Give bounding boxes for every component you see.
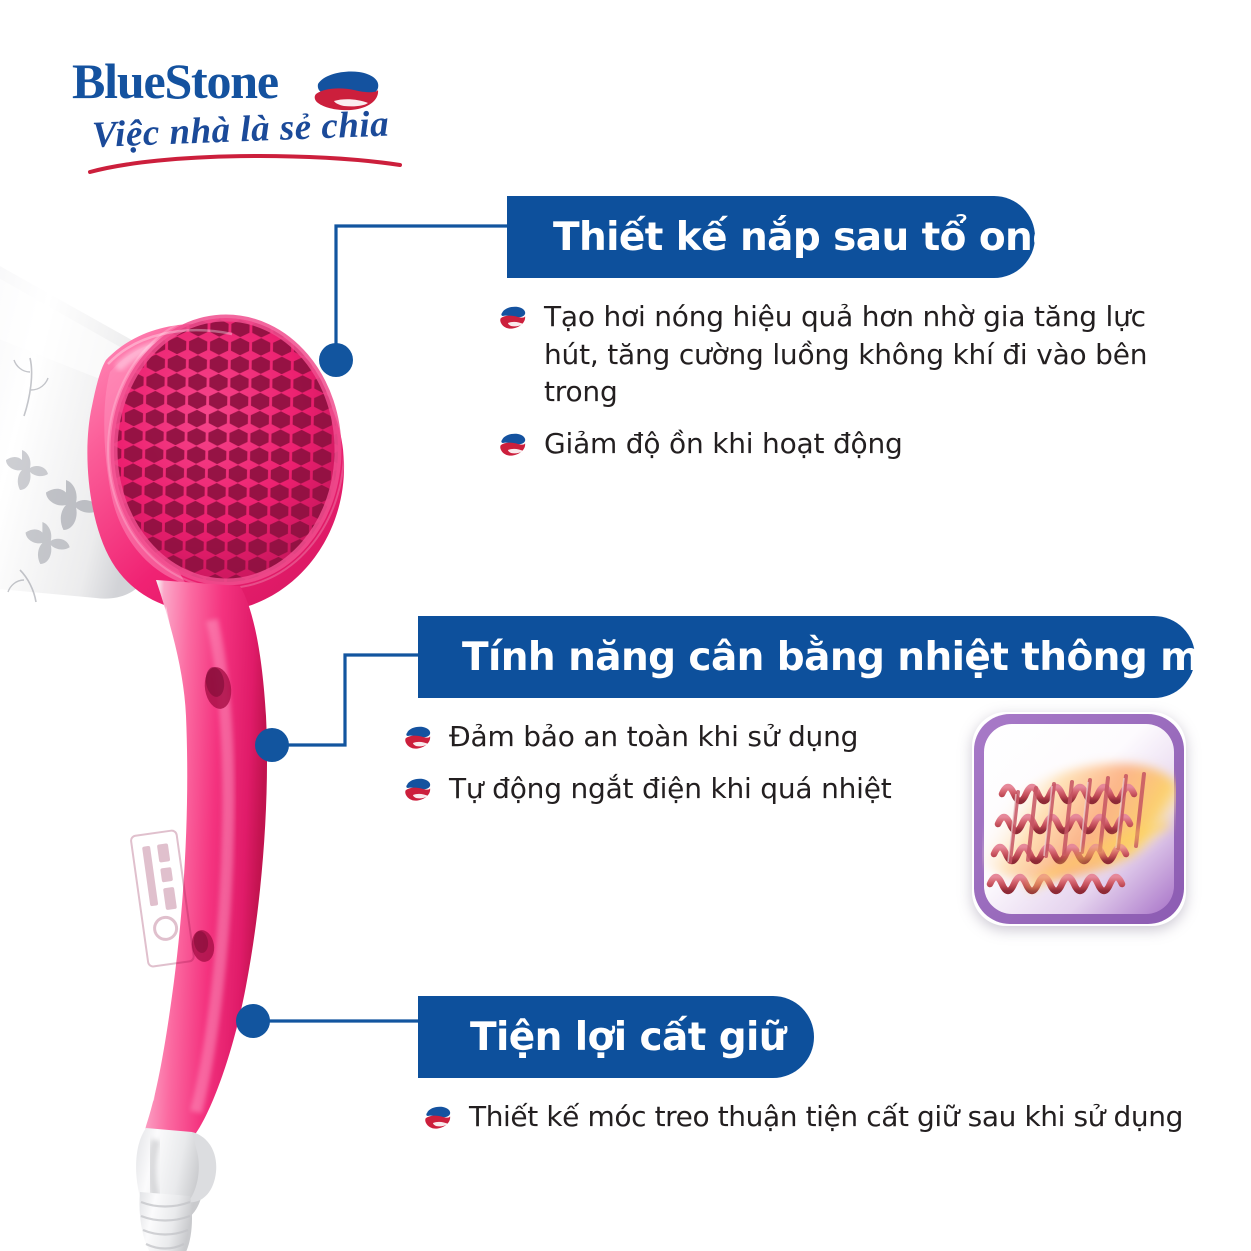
bullet-text: Thiết kế móc treo thuận tiện cất giữ sau… xyxy=(469,1098,1183,1136)
bluestone-bullet-icon xyxy=(500,305,526,331)
brand-name: BlueStone xyxy=(72,56,278,106)
section-bullets-2: Đảm bảo an toàn khi sử dụng Tự động ngắt… xyxy=(405,718,965,807)
section-banner-honeycomb-rear-cover: Thiết kế nắp sau tổ ong xyxy=(507,196,1035,278)
infographic-canvas: BlueStone Việc nhà là sẻ chia xyxy=(0,0,1251,1251)
hair-dryer-product-image xyxy=(0,150,480,1251)
hanging-hook-and-cord xyxy=(136,1128,222,1251)
section-bullets-3: Thiết kế móc treo thuận tiện cất giữ sau… xyxy=(425,1098,1195,1136)
list-item: Tạo hơi nóng hiệu quả hơn nhờ gia tăng l… xyxy=(500,298,1190,411)
list-item: Đảm bảo an toàn khi sử dụng xyxy=(405,718,965,756)
section-bullets-1: Tạo hơi nóng hiệu quả hơn nhờ gia tăng l… xyxy=(500,298,1190,462)
section-banner-smart-heat-balance: Tính năng cân bằng nhiệt thông minh xyxy=(418,616,1195,698)
section-title-1: Thiết kế nắp sau tổ ong xyxy=(553,218,1060,257)
bullet-text: Giảm độ ồn khi hoạt động xyxy=(544,425,903,463)
bullet-text: Tự động ngắt điện khi quá nhiệt xyxy=(449,770,892,808)
list-item: Tự động ngắt điện khi quá nhiệt xyxy=(405,770,965,808)
bluestone-bullet-icon xyxy=(500,432,526,458)
bluestone-bullet-icon xyxy=(425,1105,451,1131)
honeycomb-rear-cap xyxy=(87,310,350,612)
list-item: Giảm độ ồn khi hoạt động xyxy=(500,425,1190,463)
section-title-2: Tính năng cân bằng nhiệt thông minh xyxy=(462,638,1251,677)
list-item: Thiết kế móc treo thuận tiện cất giữ sau… xyxy=(425,1098,1195,1136)
heating-coil-thermal-image xyxy=(972,712,1186,926)
bluestone-bullet-icon xyxy=(405,777,431,803)
section-title-3: Tiện lợi cất giữ xyxy=(470,1018,786,1057)
dryer-handle xyxy=(130,580,267,1145)
bullet-text: Đảm bảo an toàn khi sử dụng xyxy=(449,718,858,756)
bullet-text: Tạo hơi nóng hiệu quả hơn nhờ gia tăng l… xyxy=(544,298,1190,411)
section-banner-convenient-storage: Tiện lợi cất giữ xyxy=(418,996,814,1078)
bluestone-bullet-icon xyxy=(405,725,431,751)
